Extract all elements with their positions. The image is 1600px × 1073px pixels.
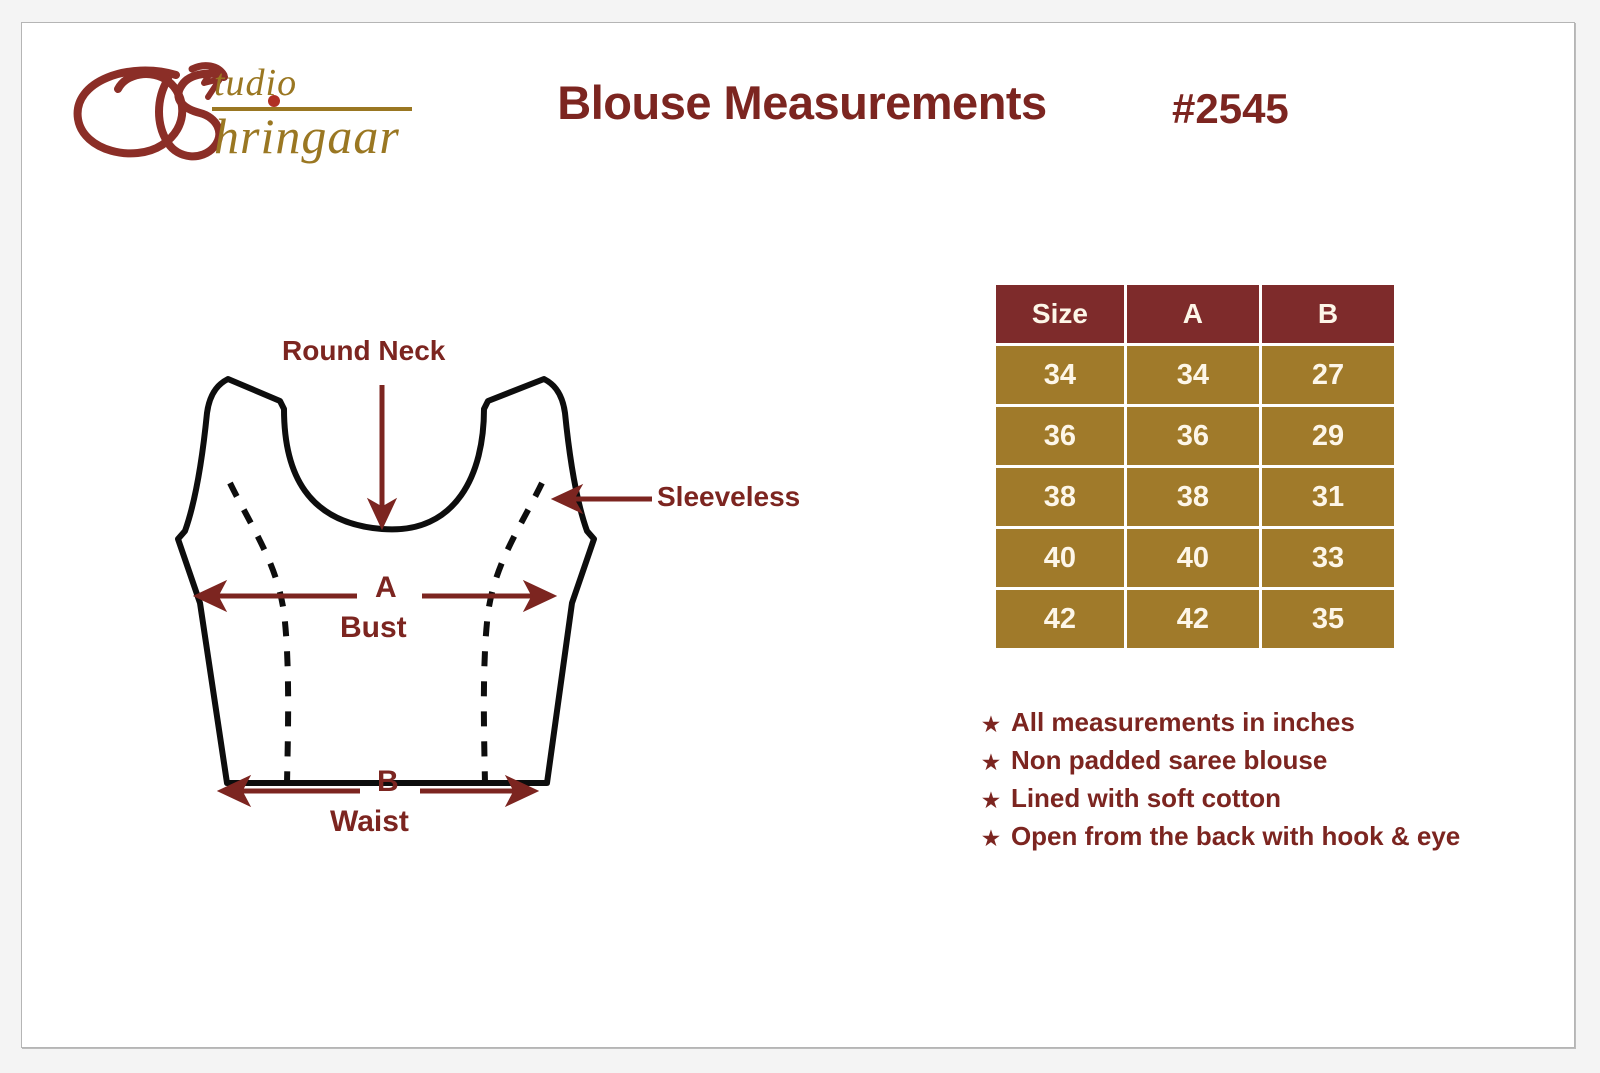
table-cell-b: 27 <box>1262 346 1394 404</box>
notes-list: ★ All measurements in inches ★ Non padde… <box>982 707 1582 859</box>
round-neck-label: Round Neck <box>282 335 445 367</box>
note-item: ★ Open from the back with hook & eye <box>982 821 1582 852</box>
note-text: Lined with soft cotton <box>1011 783 1281 814</box>
table-cell-a: 34 <box>1127 346 1259 404</box>
table-cell-size: 40 <box>996 529 1124 587</box>
page-title: Blouse Measurements <box>502 75 1102 130</box>
table-row: 42 42 35 <box>996 590 1394 648</box>
brand-logo: tudio hringaar <box>64 51 414 169</box>
size-chart-page: tudio hringaar Blouse Measurements #2545 <box>21 22 1575 1048</box>
table-cell-a: 42 <box>1127 590 1259 648</box>
blouse-diagram-artwork <box>132 313 892 883</box>
table-header-a: A <box>1127 285 1259 343</box>
blouse-diagram: Round Neck Sleeveless A Bust B Waist <box>132 313 892 883</box>
round-neck-arrow <box>368 385 396 529</box>
table-row: 40 40 33 <box>996 529 1394 587</box>
table-cell-size: 34 <box>996 346 1124 404</box>
brand-logo-artwork: tudio hringaar <box>64 51 414 169</box>
table-cell-b: 35 <box>1262 590 1394 648</box>
table-row: 36 36 29 <box>996 407 1394 465</box>
table-row: 38 38 31 <box>996 468 1394 526</box>
bust-letter-label: A <box>375 571 397 605</box>
star-bullet-icon: ★ <box>982 715 1000 735</box>
table-cell-b: 29 <box>1262 407 1394 465</box>
svg-text:tudio: tudio <box>214 62 297 104</box>
table-cell-size: 38 <box>996 468 1124 526</box>
note-item: ★ Lined with soft cotton <box>982 783 1582 814</box>
table-cell-b: 31 <box>1262 468 1394 526</box>
style-code: #2545 <box>1172 85 1289 133</box>
table-header-size: Size <box>996 285 1124 343</box>
waist-letter-label: B <box>377 765 399 799</box>
note-text: Open from the back with hook & eye <box>1011 821 1460 852</box>
star-bullet-icon: ★ <box>982 753 1000 773</box>
note-text: All measurements in inches <box>1011 707 1355 738</box>
table-cell-a: 38 <box>1127 468 1259 526</box>
note-item: ★ Non padded saree blouse <box>982 745 1582 776</box>
note-text: Non padded saree blouse <box>1011 745 1327 776</box>
star-bullet-icon: ★ <box>982 829 1000 849</box>
table-header-row: Size A B <box>996 285 1394 343</box>
bust-label: Bust <box>340 611 407 645</box>
table-cell-size: 36 <box>996 407 1124 465</box>
size-table: Size A B 34 34 27 36 36 29 38 38 31 40 <box>993 282 1397 651</box>
note-item: ★ All measurements in inches <box>982 707 1582 738</box>
waist-label: Waist <box>330 805 409 839</box>
sleeveless-label: Sleeveless <box>657 481 800 513</box>
table-cell-a: 40 <box>1127 529 1259 587</box>
table-header-b: B <box>1262 285 1394 343</box>
table-row: 34 34 27 <box>996 346 1394 404</box>
svg-text:hringaar: hringaar <box>214 108 400 164</box>
star-bullet-icon: ★ <box>982 791 1000 811</box>
table-cell-b: 33 <box>1262 529 1394 587</box>
table-cell-a: 36 <box>1127 407 1259 465</box>
table-cell-size: 42 <box>996 590 1124 648</box>
